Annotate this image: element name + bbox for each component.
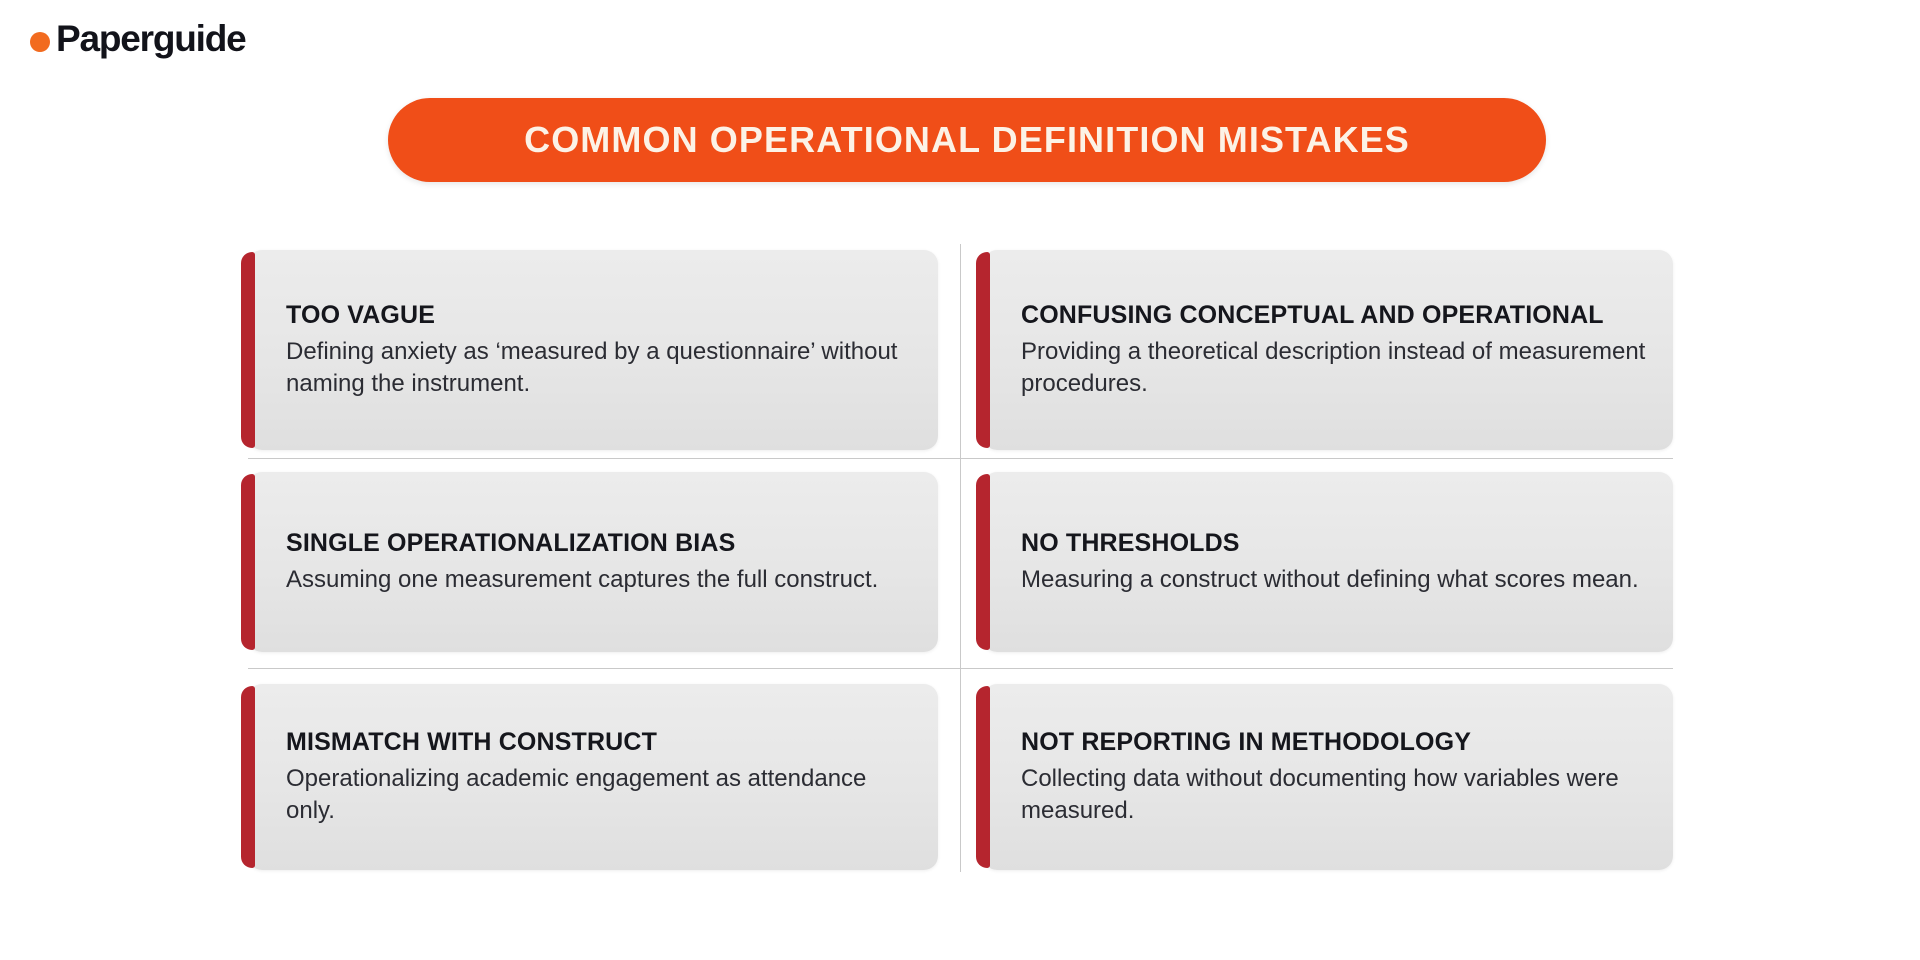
accent-bar — [241, 686, 255, 868]
grid-row-2: SINGLE OPERATIONALIZATION BIAS Assuming … — [248, 472, 1673, 652]
card-description: Measuring a construct without defining w… — [1021, 564, 1647, 596]
brand-name: Paperguide — [56, 20, 246, 57]
mistake-card: TOO VAGUE Defining anxiety as ‘measured … — [248, 250, 938, 450]
infographic-page: Paperguide COMMON OPERATIONAL DEFINITION… — [0, 0, 1920, 960]
mistake-card: NOT REPORTING IN METHODOLOGY Collecting … — [983, 684, 1673, 870]
brand-dot-icon — [30, 32, 50, 52]
mistake-card: SINGLE OPERATIONALIZATION BIAS Assuming … — [248, 472, 938, 652]
mistake-card: NO THRESHOLDS Measuring a construct with… — [983, 472, 1673, 652]
card-content: SINGLE OPERATIONALIZATION BIAS Assuming … — [286, 528, 912, 596]
title-banner: COMMON OPERATIONAL DEFINITION MISTAKES — [388, 98, 1546, 182]
card-content: NO THRESHOLDS Measuring a construct with… — [1021, 528, 1647, 596]
row-divider-2 — [248, 668, 1673, 669]
card-title: CONFUSING CONCEPTUAL AND OPERATIONAL — [1021, 300, 1647, 331]
mistake-card: CONFUSING CONCEPTUAL AND OPERATIONAL Pro… — [983, 250, 1673, 450]
card-content: TOO VAGUE Defining anxiety as ‘measured … — [286, 300, 912, 400]
card-title: NO THRESHOLDS — [1021, 528, 1647, 559]
card-content: CONFUSING CONCEPTUAL AND OPERATIONAL Pro… — [1021, 300, 1647, 400]
accent-bar — [241, 474, 255, 650]
accent-bar — [976, 474, 990, 650]
mistakes-grid: TOO VAGUE Defining anxiety as ‘measured … — [248, 244, 1673, 872]
accent-bar — [976, 686, 990, 868]
row-divider-1 — [248, 458, 1673, 459]
card-description: Operationalizing academic engagement as … — [286, 763, 906, 827]
card-title: MISMATCH WITH CONSTRUCT — [286, 727, 912, 758]
brand-logo: Paperguide — [30, 20, 246, 57]
page-title: COMMON OPERATIONAL DEFINITION MISTAKES — [524, 119, 1410, 161]
grid-row-1: TOO VAGUE Defining anxiety as ‘measured … — [248, 250, 1673, 450]
accent-bar — [241, 252, 255, 448]
card-description: Defining anxiety as ‘measured by a quest… — [286, 336, 906, 400]
grid-row-3: MISMATCH WITH CONSTRUCT Operationalizing… — [248, 684, 1673, 870]
card-description: Collecting data without documenting how … — [1021, 763, 1647, 827]
card-content: MISMATCH WITH CONSTRUCT Operationalizing… — [286, 727, 912, 827]
card-title: NOT REPORTING IN METHODOLOGY — [1021, 727, 1647, 758]
card-title: TOO VAGUE — [286, 300, 912, 331]
accent-bar — [976, 252, 990, 448]
card-description: Providing a theoretical description inst… — [1021, 336, 1647, 400]
card-description: Assuming one measurement captures the fu… — [286, 564, 906, 596]
mistake-card: MISMATCH WITH CONSTRUCT Operationalizing… — [248, 684, 938, 870]
card-content: NOT REPORTING IN METHODOLOGY Collecting … — [1021, 727, 1647, 827]
card-title: SINGLE OPERATIONALIZATION BIAS — [286, 528, 912, 559]
